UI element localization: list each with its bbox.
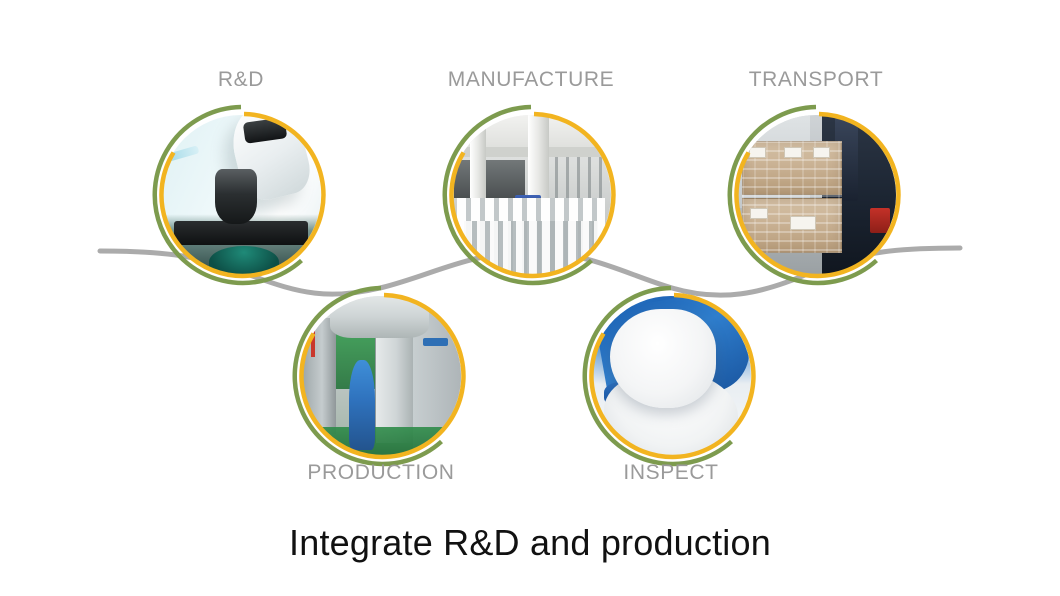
node-ring-inspect <box>576 281 766 471</box>
node-transport[interactable] <box>721 100 911 290</box>
infographic-canvas: R&D MANUFACTURE <box>0 0 1060 596</box>
node-production[interactable] <box>286 281 476 471</box>
node-label-rd: R&D <box>111 68 371 92</box>
node-label-manufacture: MANUFACTURE <box>401 68 661 92</box>
node-label-inspect: INSPECT <box>541 461 801 485</box>
node-inspect[interactable] <box>576 281 766 471</box>
node-manufacture[interactable] <box>436 100 626 290</box>
page-title: Integrate R&D and production <box>0 522 1060 564</box>
node-label-transport: TRANSPORT <box>686 68 946 92</box>
node-ring-production <box>286 281 476 471</box>
node-ring-transport <box>721 100 911 290</box>
node-label-production: PRODUCTION <box>251 461 511 485</box>
node-rd[interactable] <box>146 100 336 290</box>
node-ring-manufacture <box>436 100 626 290</box>
node-ring-rd <box>146 100 336 290</box>
